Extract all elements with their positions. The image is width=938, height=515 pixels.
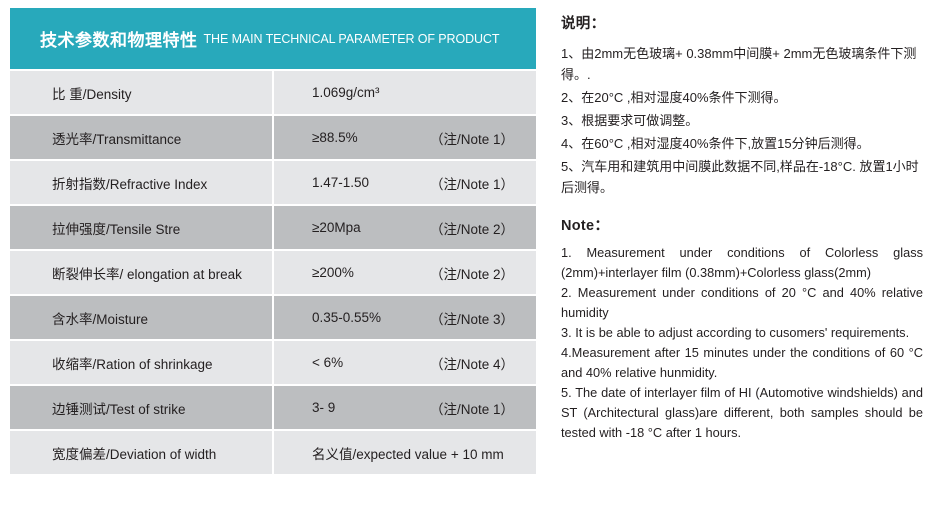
spec-value-text: ≥200% xyxy=(312,265,430,280)
spec-name-cell: 断裂伸长率/ elongation at break xyxy=(10,251,272,294)
table-row: 收缩率/Ration of shrinkage< 6%（注/Note 4） xyxy=(10,341,536,384)
table-row: 含水率/Moisture0.35-0.55%（注/Note 3） xyxy=(10,296,536,339)
spec-name-cell: 宽度偏差/Deviation of width xyxy=(10,431,272,474)
table-row: 宽度偏差/Deviation of width名义值/expected valu… xyxy=(10,431,536,474)
table-title-chinese: 技术参数和物理特性 xyxy=(40,26,198,51)
table-row: 拉伸强度/Tensile Stre≥20Mpa（注/Note 2） xyxy=(10,206,536,249)
spec-value-text: ≥20Mpa xyxy=(312,220,430,235)
spec-value-text: 1.069g/cm³ xyxy=(312,85,430,100)
note-line-english: 4.Measurement after 15 minutes under the… xyxy=(561,343,923,383)
spec-note-reference: （注/Note 1） xyxy=(430,128,514,148)
spec-value-cell: ≥200%（注/Note 2） xyxy=(274,251,536,294)
spec-note-reference: （注/Note 3） xyxy=(430,308,514,328)
spec-value-cell: ≥88.5%（注/Note 1） xyxy=(274,116,536,159)
spec-value-text: 1.47-1.50 xyxy=(312,175,430,190)
spec-value-cell: < 6%（注/Note 4） xyxy=(274,341,536,384)
spec-value-cell: 名义值/expected value + 10 mm xyxy=(274,431,536,474)
note-line-english: 1. Measurement under conditions of Color… xyxy=(561,243,923,283)
spec-note-reference: （注/Note 1） xyxy=(430,173,514,193)
spec-value-cell: 1.069g/cm³ xyxy=(274,71,536,114)
spec-table: 比 重/Density1.069g/cm³透光率/Transmittance≥8… xyxy=(10,71,536,474)
spec-name-cell: 边锤测试/Test of strike xyxy=(10,386,272,429)
spec-note-reference: （注/Note 2） xyxy=(430,263,514,283)
table-title-english: THE MAIN TECHNICAL PARAMETER OF PRODUCT xyxy=(204,32,500,46)
note-line-english: 2. Measurement under conditions of 20 °C… xyxy=(561,283,923,323)
spec-note-reference: （注/Note 1） xyxy=(430,398,514,418)
spec-note-reference: （注/Note 2） xyxy=(430,218,514,238)
note-line-chinese: 3、根据要求可做调整。 xyxy=(561,110,923,131)
spec-name-cell: 收缩率/Ration of shrinkage xyxy=(10,341,272,384)
table-row: 透光率/Transmittance≥88.5%（注/Note 1） xyxy=(10,116,536,159)
spec-value-cell: 3- 9（注/Note 1） xyxy=(274,386,536,429)
notes-list-chinese: 1、由2mm无色玻璃+ 0.38mm中间膜+ 2mm无色玻璃条件下测得。.2、在… xyxy=(561,43,923,198)
spec-value-text: < 6% xyxy=(312,355,430,370)
table-row: 断裂伸长率/ elongation at break≥200%（注/Note 2… xyxy=(10,251,536,294)
note-line-chinese: 1、由2mm无色玻璃+ 0.38mm中间膜+ 2mm无色玻璃条件下测得。. xyxy=(561,43,923,85)
spec-name-cell: 含水率/Moisture xyxy=(10,296,272,339)
notes-heading-english: Note： xyxy=(561,214,923,235)
spec-name-cell: 比 重/Density xyxy=(10,71,272,114)
spec-value-cell: 1.47-1.50（注/Note 1） xyxy=(274,161,536,204)
note-line-english: 5. The date of interlayer film of HI (Au… xyxy=(561,383,923,443)
table-row: 边锤测试/Test of strike3- 9（注/Note 1） xyxy=(10,386,536,429)
spec-name-cell: 拉伸强度/Tensile Stre xyxy=(10,206,272,249)
spec-value-text: 3- 9 xyxy=(312,400,430,415)
spec-name-cell: 折射指数/Refractive Index xyxy=(10,161,272,204)
spec-value-cell: ≥20Mpa（注/Note 2） xyxy=(274,206,536,249)
table-row: 比 重/Density1.069g/cm³ xyxy=(10,71,536,114)
technical-parameter-panel: 技术参数和物理特性 THE MAIN TECHNICAL PARAMETER O… xyxy=(10,8,536,476)
notes-panel: 说明： 1、由2mm无色玻璃+ 0.38mm中间膜+ 2mm无色玻璃条件下测得。… xyxy=(561,12,923,443)
spec-value-text: 名义值/expected value + 10 mm xyxy=(312,443,504,463)
spec-value-cell: 0.35-0.55%（注/Note 3） xyxy=(274,296,536,339)
spec-note-reference: （注/Note 4） xyxy=(430,353,514,373)
note-line-chinese: 2、在20°C ,相对湿度40%条件下测得。 xyxy=(561,87,923,108)
note-line-chinese: 5、汽车用和建筑用中间膜此数据不同,样品在-18°C. 放置1小时后测得。 xyxy=(561,156,923,198)
spec-value-text: ≥88.5% xyxy=(312,130,430,145)
note-line-chinese: 4、在60°C ,相对湿度40%条件下,放置15分钟后测得。 xyxy=(561,133,923,154)
table-header-banner: 技术参数和物理特性 THE MAIN TECHNICAL PARAMETER O… xyxy=(10,8,536,69)
notes-list-english: 1. Measurement under conditions of Color… xyxy=(561,243,923,443)
notes-heading-chinese: 说明： xyxy=(561,12,923,33)
note-line-english: 3. It is be able to adjust according to … xyxy=(561,323,923,343)
spec-value-text: 0.35-0.55% xyxy=(312,310,430,325)
product-spec-page: 技术参数和物理特性 THE MAIN TECHNICAL PARAMETER O… xyxy=(0,0,938,515)
spec-name-cell: 透光率/Transmittance xyxy=(10,116,272,159)
table-row: 折射指数/Refractive Index1.47-1.50（注/Note 1） xyxy=(10,161,536,204)
